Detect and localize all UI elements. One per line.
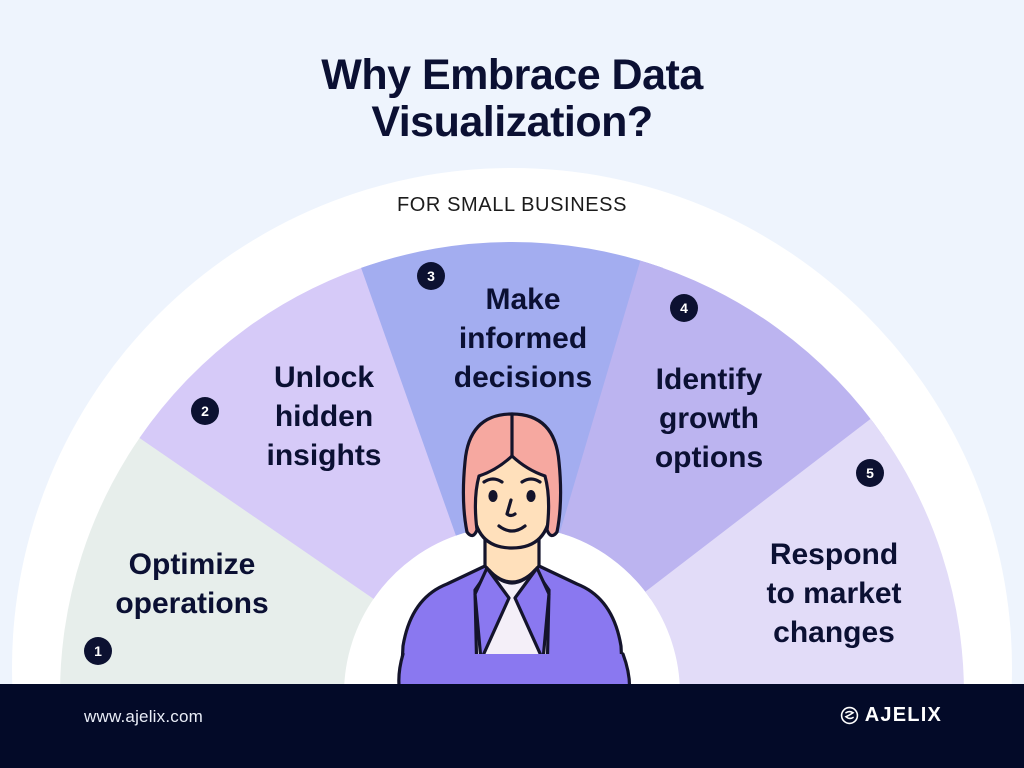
segment-label-4: Identify growth options <box>626 360 792 477</box>
segment-label-3: Make informed decisions <box>434 280 612 397</box>
title-line-1: Why Embrace Data <box>0 52 1024 99</box>
page-subtitle: FOR SMALL BUSINESS <box>0 194 1024 217</box>
footer-website-url[interactable]: www.ajelix.com <box>84 707 203 727</box>
page-title: Why Embrace Data Visualization? <box>0 52 1024 146</box>
segment-label-1: Optimize operations <box>96 545 288 623</box>
brand-logo[interactable]: AJELIX <box>840 704 942 727</box>
brand-name: AJELIX <box>865 704 942 727</box>
ajelix-swirl-icon <box>840 706 859 725</box>
segment-badge-5[interactable]: 5 <box>856 459 884 487</box>
segment-label-5: Respond to market changes <box>740 535 928 652</box>
title-line-2: Visualization? <box>0 99 1024 146</box>
segment-badge-3[interactable]: 3 <box>417 262 445 290</box>
segment-badge-1[interactable]: 1 <box>84 637 112 665</box>
segment-badge-4[interactable]: 4 <box>670 294 698 322</box>
segment-badge-2[interactable]: 2 <box>191 397 219 425</box>
infographic-canvas: Why Embrace Data Visualization? FOR SMAL… <box>0 0 1024 768</box>
